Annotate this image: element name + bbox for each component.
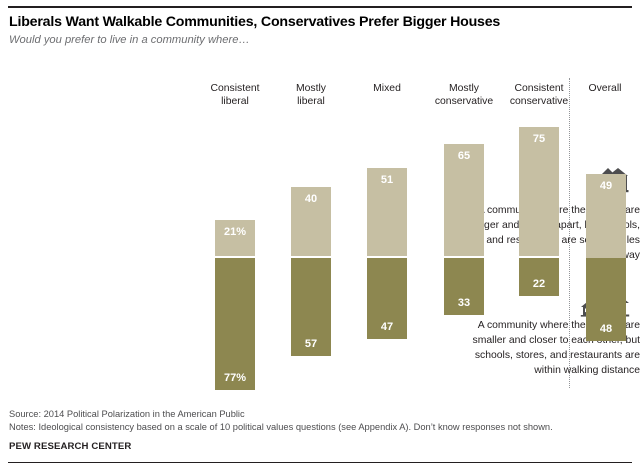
bar-segment-smaller: 48 [586, 258, 626, 341]
bar-value-label: 22 [519, 278, 559, 290]
bottom-rule [8, 462, 632, 463]
source-note: Source: 2014 Political Polarization in t… [9, 408, 245, 421]
bar-segment-smaller: 77% [215, 258, 255, 390]
bar-mixed: 51 47 [367, 0, 407, 471]
bar-value-label: 47 [367, 321, 407, 333]
bar-value-label: 21% [215, 226, 255, 238]
bar-segment-smaller: 22 [519, 258, 559, 296]
bar-segment-smaller: 47 [367, 258, 407, 339]
bar-value-label: 57 [291, 338, 331, 350]
bar-consistent-liberal: 21% 77% [215, 0, 255, 471]
bar-segment-larger: 21% [215, 220, 255, 256]
bar-consistent-conservative: 75 22 [519, 0, 559, 471]
bar-segment-smaller: 33 [444, 258, 484, 315]
bar-mostly-liberal: 40 57 [291, 0, 331, 471]
bar-segment-larger: 51 [367, 168, 407, 256]
bar-segment-larger: 49 [586, 174, 626, 258]
bar-value-label: 77% [215, 372, 255, 384]
bar-value-label: 51 [367, 174, 407, 186]
bar-segment-smaller: 57 [291, 258, 331, 356]
bar-value-label: 48 [586, 323, 626, 335]
bar-value-label: 40 [291, 193, 331, 205]
bar-segment-larger: 75 [519, 127, 559, 256]
pew-research-center-brand: PEW RESEARCH CENTER [9, 441, 131, 452]
methodology-note: Notes: Ideological consistency based on … [9, 421, 629, 434]
bar-value-label: 33 [444, 297, 484, 309]
bar-value-label: 49 [586, 180, 626, 192]
chart-plot-area: Consistent liberal Mostly liberal Mixed … [0, 0, 640, 471]
bar-value-label: 75 [519, 133, 559, 145]
bar-segment-larger: 65 [444, 144, 484, 256]
bar-value-label: 65 [444, 150, 484, 162]
bar-overall: 49 48 [586, 0, 626, 471]
bar-segment-larger: 40 [291, 187, 331, 256]
bar-mostly-conservative: 65 33 [444, 0, 484, 471]
